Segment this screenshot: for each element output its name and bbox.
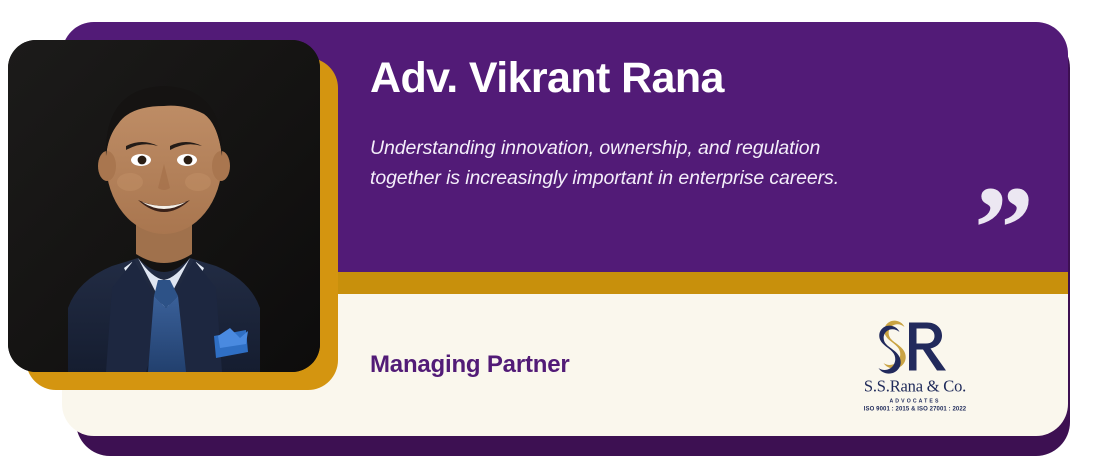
role-title: Managing Partner xyxy=(370,351,570,379)
quote-text-block: Adv. Vikrant Rana Understanding innovati… xyxy=(370,56,1028,194)
sr-monogram-icon xyxy=(871,318,959,376)
logo-wordmark: S.S.Rana & Co. xyxy=(840,377,990,397)
portrait-container xyxy=(8,40,338,390)
quotation-mark-icon: ” xyxy=(974,168,1034,288)
logo-subtitle: ADVOCATES xyxy=(840,399,990,405)
portrait-illustration xyxy=(8,40,320,372)
portrait-photo xyxy=(8,40,320,372)
company-logo: S.S.Rana & Co. ADVOCATES ISO 9001 : 2015… xyxy=(840,318,990,413)
logo-certification: ISO 9001 : 2015 & ISO 27001 : 2022 xyxy=(840,407,990,413)
testimonial-card-canvas: Adv. Vikrant Rana Understanding innovati… xyxy=(0,0,1106,469)
person-name: Adv. Vikrant Rana xyxy=(370,56,1028,101)
quote-line-1: Understanding innovation, ownership, and… xyxy=(370,133,940,163)
quote-line-2: together is increasingly important in en… xyxy=(370,163,940,193)
quote-text: Understanding innovation, ownership, and… xyxy=(370,133,940,193)
